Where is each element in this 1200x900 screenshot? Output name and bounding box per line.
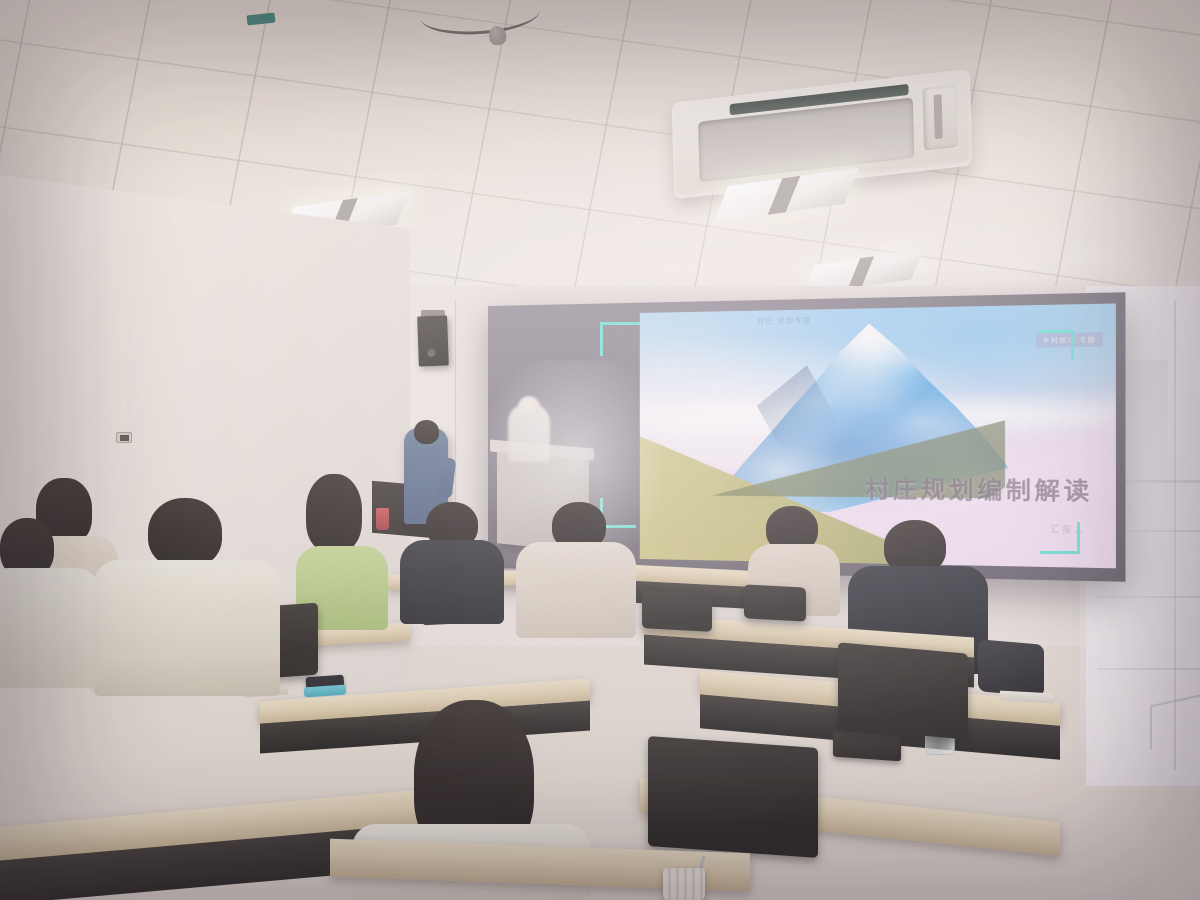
backpack (978, 639, 1044, 697)
chair (642, 590, 712, 632)
attendee-body (94, 560, 280, 696)
slide-subtitle: 汇报人 (1050, 524, 1085, 537)
classroom-photo: 村庄 规划专题 乡村振兴 专题 村庄规划编制解读 汇报人 (0, 0, 1200, 900)
slide-canvas: 村庄 规划专题 乡村振兴 专题 村庄规划编制解读 汇报人 (640, 303, 1116, 568)
wall-speaker-icon (417, 315, 449, 366)
chair (648, 736, 818, 858)
attendee-head (148, 498, 222, 568)
attendee-body (0, 568, 100, 688)
striped-mug (663, 868, 705, 900)
attendee-head (306, 474, 362, 552)
ac-side-vent (922, 84, 957, 150)
slide-badge: 乡村振兴 专题 (1036, 333, 1103, 348)
attendee-body (516, 542, 636, 638)
chair (838, 642, 968, 739)
presenter-head (518, 396, 540, 418)
window-mullion-3 (1096, 596, 1200, 598)
notebook-on-desk (833, 731, 901, 762)
wall-outlet (116, 432, 132, 443)
chair (744, 584, 806, 621)
standing-attendee-head (414, 420, 439, 444)
attendee-body (400, 540, 504, 624)
window-mullion-4 (1098, 668, 1200, 670)
red-cup (376, 508, 389, 530)
slide-topbar-text: 村庄 规划专题 (757, 313, 812, 324)
slide-title: 村庄规划编制解读 (865, 471, 1093, 507)
